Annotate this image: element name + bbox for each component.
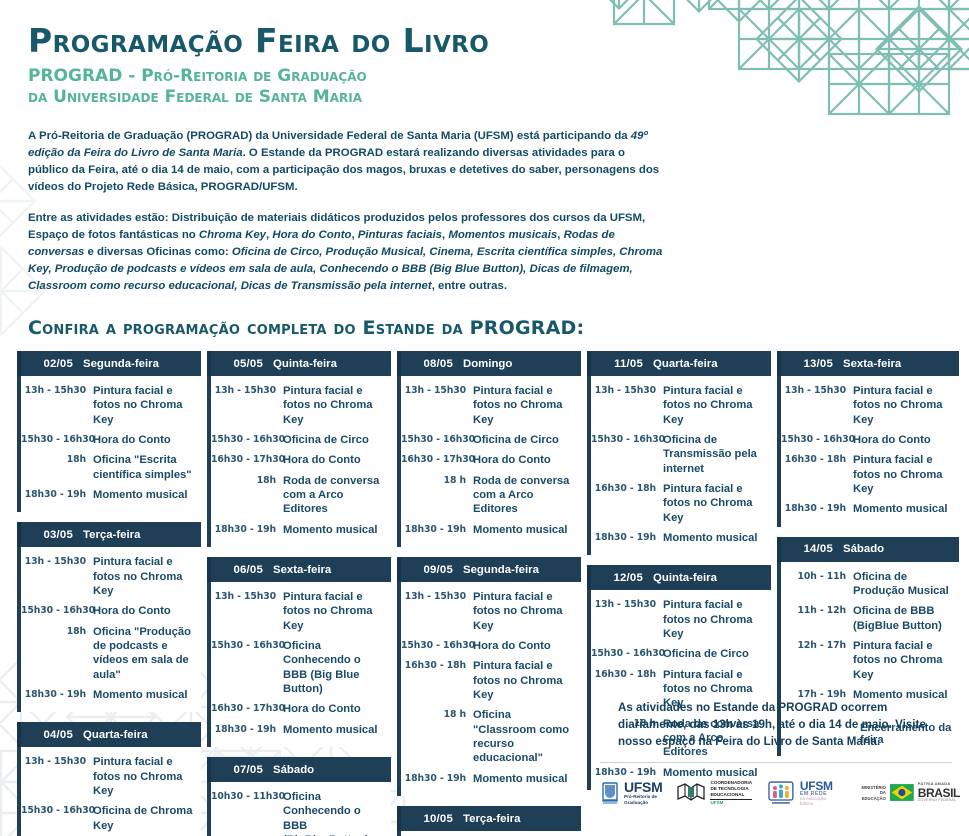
schedule-activity: Hora do Conto bbox=[283, 702, 387, 716]
day-card-body: 13h - 15h30Pintura facial e fotos no Chr… bbox=[17, 376, 201, 512]
ministerio-line1: MINISTÉRIO DA bbox=[855, 785, 886, 796]
schedule-time: 15h30 - 16h30 bbox=[401, 639, 473, 651]
schedule-time: 15h30 - 16h30 bbox=[21, 433, 93, 445]
schedule-activity: Pintura facial e fotos no Chroma Key bbox=[473, 590, 577, 633]
intro-paragraph-1: A Pró-Reitoria de Graduação (PROGRAD) da… bbox=[28, 128, 664, 196]
day-date: 08/05 bbox=[411, 358, 453, 370]
schedule-time: 18h30 - 19h bbox=[401, 523, 473, 535]
schedule-row: 13h - 15h30Pintura facial e fotos no Chr… bbox=[401, 384, 577, 427]
schedule-activity: Pintura facial e fotos no Chroma Key bbox=[93, 555, 197, 598]
day-card-body: 13h - 15h30Pintura facial e fotos no Chr… bbox=[207, 582, 391, 747]
schedule-time: 13h - 15h30 bbox=[21, 384, 93, 396]
schedule-activity: Hora do Conto bbox=[853, 433, 955, 447]
schedule-row: 18h30 - 19hMomento musical bbox=[21, 488, 197, 502]
schedule-activity: Oficina de BBB (BigBlue Button) bbox=[853, 604, 955, 633]
schedule-time: 16h30 - 18h bbox=[591, 482, 663, 494]
day-weekday: Domingo bbox=[463, 358, 512, 370]
ufsm-prograd-sub2: Graduação bbox=[624, 800, 662, 806]
day-card[interactable]: 09/05Segunda-feira13h - 15h30Pintura fac… bbox=[397, 557, 581, 796]
schedule-row: 18h30 - 19hMomento musical bbox=[401, 772, 577, 786]
day-card[interactable]: 03/05Terça-feira13h - 15h30Pintura facia… bbox=[17, 522, 201, 712]
day-weekday: Terça-feira bbox=[83, 529, 140, 541]
day-card-body: 13h - 15h30Pintura facial e fotos no Chr… bbox=[587, 376, 771, 555]
poster-header: Programação Feira do Livro PROGRAD - Pró… bbox=[0, 0, 969, 108]
day-weekday: Quarta-feira bbox=[653, 358, 718, 370]
day-card-header: 11/05Quarta-feira bbox=[587, 351, 771, 376]
schedule-time: 13h - 15h30 bbox=[21, 555, 93, 567]
schedule-time: 15h30 - 16h30 bbox=[591, 647, 663, 659]
schedule-time: 18h bbox=[21, 625, 93, 637]
schedule-row: 16h30 - 18hPintura facial e fotos no Chr… bbox=[591, 482, 767, 525]
schedule-time: 15h30 - 16h30 bbox=[21, 804, 93, 816]
schedule-row: 16h30 - 18hPintura facial e fotos no Chr… bbox=[401, 659, 577, 702]
schedule-time: 13h - 15h30 bbox=[591, 384, 663, 396]
schedule-time: 18h30 - 19h bbox=[401, 772, 473, 784]
schedule-activity: Momento musical bbox=[473, 772, 577, 786]
schedule-row: 18 hRoda de conversa com a Arco Editores bbox=[401, 474, 577, 517]
coordenadoria-tecnologia-educacional-logo: COORDENADORIA DE TECNOLOGIA EDUCACIONAL … bbox=[676, 780, 752, 806]
day-weekday: Sexta-feira bbox=[843, 358, 901, 370]
schedule-activity: Oficina de Circo bbox=[663, 647, 767, 661]
schedule-row: 13h - 15h30Pintura facial e fotos no Chr… bbox=[21, 555, 197, 598]
schedule-time: 18h30 - 19h bbox=[781, 502, 853, 514]
schedule-row: 15h30 - 16h30Hora do Conto bbox=[21, 604, 197, 618]
schedule-time: 16h30 - 18h bbox=[781, 453, 853, 465]
schedule-time: 15h30 - 16h30 bbox=[21, 604, 93, 616]
schedule-time: 18 h bbox=[401, 474, 473, 486]
schedule-row: 13h - 15h30Pintura facial e fotos no Chr… bbox=[591, 384, 767, 427]
schedule-activity: Pintura facial e fotos no Chroma Key bbox=[283, 590, 387, 633]
day-card-header: 13/05Sexta-feira bbox=[777, 351, 959, 376]
day-card[interactable]: 10/05Terça-feira13h - 15h30Pintura facia… bbox=[397, 806, 581, 836]
day-date: 05/05 bbox=[221, 358, 263, 370]
schedule-column-1: 02/05Segunda-feira13h - 15h30Pintura fac… bbox=[17, 351, 201, 836]
day-card[interactable]: 02/05Segunda-feira13h - 15h30Pintura fac… bbox=[17, 351, 201, 512]
schedule-time: 16h30 - 18h bbox=[401, 659, 473, 671]
schedule-activity: Oficina de Chroma Key bbox=[93, 804, 197, 833]
schedule-row: 12h - 17hPintura facial e fotos no Chrom… bbox=[781, 639, 955, 682]
schedule-time: 13h - 15h30 bbox=[591, 598, 663, 610]
day-card-header: 07/05Sábado bbox=[207, 757, 391, 782]
schedule-time: 18 h bbox=[401, 708, 473, 720]
schedule-activity: Momento musical bbox=[93, 688, 197, 702]
day-date: 14/05 bbox=[791, 543, 833, 555]
schedule-column-2: 05/05Quinta-feira13h - 15h30Pintura faci… bbox=[207, 351, 391, 836]
day-date: 10/05 bbox=[411, 813, 453, 825]
subtitle-line-1: PROGRAD - Pró-Reitoria de Graduação bbox=[28, 66, 969, 87]
schedule-row: 18h30 - 19hMomento musical bbox=[591, 531, 767, 545]
schedule-grid: 02/05Segunda-feira13h - 15h30Pintura fac… bbox=[0, 351, 969, 836]
schedule-time: 13h - 15h30 bbox=[211, 384, 283, 396]
schedule-time: 16h30 - 17h30 bbox=[211, 702, 283, 714]
schedule-column-3: 08/05Domingo13h - 15h30Pintura facial e … bbox=[397, 351, 581, 836]
schedule-row: 18hOficina "Escrita científica simples" bbox=[21, 453, 197, 482]
day-date: 11/05 bbox=[601, 358, 643, 370]
schedule-time: 15h30 - 16h30 bbox=[781, 433, 853, 445]
day-card-body: 13h - 15h30Pintura facial e fotos no Chr… bbox=[397, 376, 581, 547]
schedule-row: 13h - 15h30Pintura facial e fotos no Chr… bbox=[781, 384, 955, 427]
day-weekday: Sábado bbox=[843, 543, 884, 555]
schedule-activity: Oficina Conhecendo o BBB (Big Blue Butto… bbox=[283, 639, 387, 696]
schedule-time: 16h30 - 18h bbox=[591, 668, 663, 680]
schedule-row: 13h - 15h30Pintura facial e fotos no Chr… bbox=[211, 384, 387, 427]
day-date: 09/05 bbox=[411, 564, 453, 576]
day-weekday: Terça-feira bbox=[463, 813, 520, 825]
day-card-header: 10/05Terça-feira bbox=[397, 806, 581, 831]
schedule-activity: Hora do Conto bbox=[283, 453, 387, 467]
day-card-header: 04/05Quarta-feira bbox=[17, 722, 201, 747]
day-weekday: Quinta-feira bbox=[653, 572, 717, 584]
schedule-row: 16h30 - 18hPintura facial e fotos no Chr… bbox=[781, 453, 955, 496]
day-date: 02/05 bbox=[31, 358, 73, 370]
cte-line3: EDUCACIONAL bbox=[710, 792, 752, 798]
subtitle-line-2: da Universidade Federal de Santa Maria bbox=[28, 87, 969, 108]
schedule-time: 18h30 - 19h bbox=[21, 688, 93, 700]
schedule-activity: Momento musical bbox=[473, 523, 577, 537]
schedule-activity: Roda de conversa com a Arco Editores bbox=[283, 474, 387, 517]
people-group-icon bbox=[766, 780, 796, 806]
day-card-header: 02/05Segunda-feira bbox=[17, 351, 201, 376]
schedule-row: 10h - 11hOficina de Produção Musical bbox=[781, 570, 955, 599]
day-weekday: Segunda-feira bbox=[463, 564, 539, 576]
day-weekday: Quarta-feira bbox=[83, 729, 148, 741]
day-card[interactable]: 07/05Sábado10h30 - 11h30Oficina Conhecen… bbox=[207, 757, 391, 836]
schedule-row: 15h30 - 16h30Hora do Conto bbox=[21, 433, 197, 447]
day-card-body: 13h - 15h30Pintura facial e fotos no Chr… bbox=[17, 747, 201, 836]
footer-note: As atividades no Estande da PROGRAD ocor… bbox=[618, 700, 958, 750]
schedule-activity: Momento musical bbox=[283, 723, 387, 737]
schedule-time: 15h30 - 16h30 bbox=[591, 433, 663, 445]
ufsm-prograd-logo: UFSM Pró-Reitoria de Graduação bbox=[600, 780, 662, 805]
schedule-row: 15h30 - 16h30Oficina de Chroma Key bbox=[21, 804, 197, 833]
schedule-row: 15h30 - 16h30Oficina de Circo bbox=[211, 433, 387, 447]
schedule-row: 16h30 - 17h30Hora do Conto bbox=[401, 453, 577, 467]
schedule-row: 18h30 - 19hMomento musical bbox=[21, 688, 197, 702]
schedule-row: 15h30 - 16h30Hora do Conto bbox=[401, 639, 577, 653]
schedule-time: 13h - 15h30 bbox=[401, 384, 473, 396]
day-weekday: Sábado bbox=[273, 764, 314, 776]
day-card-header: 05/05Quinta-feira bbox=[207, 351, 391, 376]
schedule-row: 15h30 - 16h30Hora do Conto bbox=[781, 433, 955, 447]
footer-divider bbox=[600, 762, 952, 763]
schedule-row: 18hOficina "Produção de podcasts e vídeo… bbox=[21, 625, 197, 682]
day-card[interactable]: 12/05Quinta-feira13h - 15h30Pintura faci… bbox=[587, 565, 771, 790]
day-card-header: 06/05Sexta-feira bbox=[207, 557, 391, 582]
day-date: 03/05 bbox=[31, 529, 73, 541]
schedule-activity: Oficina de Circo bbox=[283, 433, 387, 447]
schedule-section-title: Confira a programação completa do Estand… bbox=[28, 317, 969, 339]
schedule-row: 15h30 - 16h30Oficina de Circo bbox=[401, 433, 577, 447]
day-card[interactable]: 06/05Sexta-feira13h - 15h30Pintura facia… bbox=[207, 557, 391, 747]
day-card[interactable]: 11/05Quarta-feira13h - 15h30Pintura faci… bbox=[587, 351, 771, 555]
schedule-activity: Momento musical bbox=[283, 523, 387, 537]
schedule-activity: Oficina "Escrita científica simples" bbox=[93, 453, 197, 482]
schedule-activity: Hora do Conto bbox=[93, 604, 197, 618]
schedule-activity: Pintura facial e fotos no Chroma Key bbox=[473, 659, 577, 702]
schedule-row: 11h - 12hOficina de BBB (BigBlue Button) bbox=[781, 604, 955, 633]
ufsm-rede-wordmark: UFSM bbox=[800, 780, 841, 792]
cte-line4: UFSM bbox=[710, 801, 752, 806]
brasil-bottom-text: GOVERNO FEDERAL bbox=[918, 799, 960, 802]
day-card[interactable]: 05/05Quinta-feira13h - 15h30Pintura faci… bbox=[207, 351, 391, 547]
footer-logos: UFSM Pró-Reitoria de Graduação COORDENAD… bbox=[600, 768, 960, 818]
day-card[interactable]: 04/05Quarta-feira13h - 15h30Pintura faci… bbox=[17, 722, 201, 836]
schedule-row: 13h - 15h30Pintura facial e fotos no Chr… bbox=[591, 598, 767, 641]
schedule-activity: Pintura facial e fotos no Chroma Key bbox=[853, 453, 955, 496]
schedule-time: 18h30 - 19h bbox=[21, 488, 93, 500]
schedule-activity: Momento musical bbox=[663, 531, 767, 545]
day-weekday: Quinta-feira bbox=[273, 358, 337, 370]
schedule-time: 16h30 - 17h30 bbox=[211, 453, 283, 465]
day-card-header: 09/05Segunda-feira bbox=[397, 557, 581, 582]
day-card-header: 08/05Domingo bbox=[397, 351, 581, 376]
schedule-time: 12h - 17h bbox=[781, 639, 853, 651]
schedule-row: 10h30 - 11h30Oficina Conhecendo o BBB (B… bbox=[211, 790, 387, 836]
schedule-activity: Pintura facial e fotos no Chroma Key bbox=[93, 755, 197, 798]
schedule-row: 18h30 - 19hMomento musical bbox=[211, 723, 387, 737]
schedule-activity: Pintura facial e fotos no Chroma Key bbox=[93, 384, 197, 427]
day-date: 04/05 bbox=[31, 729, 73, 741]
schedule-time: 15h30 - 16h30 bbox=[211, 433, 283, 445]
schedule-activity: Roda de conversa com a Arco Editores bbox=[473, 474, 577, 517]
schedule-time: 17h - 19h bbox=[781, 688, 853, 700]
schedule-activity: Pintura facial e fotos no Chroma Key bbox=[473, 384, 577, 427]
schedule-time: 10h30 - 11h30 bbox=[211, 790, 283, 802]
intro-text-block: A Pró-Reitoria de Graduação (PROGRAD) da… bbox=[28, 128, 664, 295]
schedule-time: 18h bbox=[21, 453, 93, 465]
schedule-time: 11h - 12h bbox=[781, 604, 853, 616]
day-card[interactable]: 08/05Domingo13h - 15h30Pintura facial e … bbox=[397, 351, 581, 547]
day-card-body: 13h - 15h30Pintura facial e fotos no Chr… bbox=[777, 376, 959, 527]
day-weekday: Sexta-feira bbox=[273, 564, 331, 576]
schedule-row: 18h30 - 19hMomento musical bbox=[401, 523, 577, 537]
day-card-body: 13h - 15h30Pintura facial e fotos no Chr… bbox=[587, 590, 771, 790]
schedule-activity: Oficina de Produção Musical bbox=[853, 570, 955, 599]
schedule-time: 13h - 15h30 bbox=[781, 384, 853, 396]
schedule-time: 15h30 - 16h30 bbox=[401, 433, 473, 445]
schedule-row: 18 hOficina "Classroom como recurso educ… bbox=[401, 708, 577, 765]
day-card[interactable]: 13/05Sexta-feira13h - 15h30Pintura facia… bbox=[777, 351, 959, 527]
day-card-body: 13h - 15h30Pintura facial e fotos no Chr… bbox=[397, 582, 581, 796]
ufsm-crest-icon bbox=[600, 781, 620, 805]
ministerio-line2: EDUCAÇÃO bbox=[855, 796, 886, 801]
schedule-activity: Oficina "Produção de podcasts e vídeos e… bbox=[93, 625, 197, 682]
schedule-activity: Pintura facial e fotos no Chroma Key bbox=[663, 482, 767, 525]
schedule-row: 16h30 - 17h30Hora do Conto bbox=[211, 702, 387, 716]
ufsm-rede-sub2: na educação básica bbox=[800, 797, 841, 806]
brasil-flag-icon bbox=[890, 784, 914, 801]
intro-paragraph-2: Entre as atividades estão: Distribuição … bbox=[28, 210, 664, 296]
schedule-activity: Oficina "Classroom como recurso educacio… bbox=[473, 708, 577, 765]
schedule-activity: Oficina de Circo bbox=[473, 433, 577, 447]
schedule-activity: Hora do Conto bbox=[473, 453, 577, 467]
day-card-header: 03/05Terça-feira bbox=[17, 522, 201, 547]
schedule-row: 18h30 - 19hMomento musical bbox=[211, 523, 387, 537]
schedule-time: 15h30 - 16h30 bbox=[211, 639, 283, 651]
schedule-row: 15h30 - 16h30Oficina de Circo bbox=[591, 647, 767, 661]
page-title: Programação Feira do Livro bbox=[28, 24, 969, 59]
day-card-body: 13h - 15h30Pintura facial e fotos no Chr… bbox=[397, 831, 581, 836]
schedule-activity: Hora do Conto bbox=[93, 433, 197, 447]
schedule-activity: Pintura facial e fotos no Chroma Key bbox=[853, 639, 955, 682]
day-card-body: 13h - 15h30Pintura facial e fotos no Chr… bbox=[207, 376, 391, 547]
schedule-activity: Pintura facial e fotos no Chroma Key bbox=[663, 598, 767, 641]
day-card-body: 10h30 - 11h30Oficina Conhecendo o BBB (B… bbox=[207, 782, 391, 836]
schedule-row: 15h30 - 16h30Oficina Conhecendo o BBB (B… bbox=[211, 639, 387, 696]
schedule-time: 13h - 15h30 bbox=[21, 755, 93, 767]
schedule-time: 18h bbox=[211, 474, 283, 486]
schedule-row: 18hRoda de conversa com a Arco Editores bbox=[211, 474, 387, 517]
schedule-activity: Oficina Conhecendo o BBB (BigBlueButton) bbox=[283, 790, 387, 836]
schedule-time: 13h - 15h30 bbox=[211, 590, 283, 602]
schedule-time: 18h30 - 19h bbox=[211, 723, 283, 735]
schedule-activity: Pintura facial e fotos no Chroma Key bbox=[663, 384, 767, 427]
day-date: 13/05 bbox=[791, 358, 833, 370]
open-book-icon bbox=[676, 781, 706, 805]
ufsm-wordmark: UFSM bbox=[624, 780, 662, 794]
schedule-activity: Pintura facial e fotos no Chroma Key bbox=[853, 384, 955, 427]
schedule-activity: Pintura facial e fotos no Chroma Key bbox=[283, 384, 387, 427]
day-date: 12/05 bbox=[601, 572, 643, 584]
schedule-row: 13h - 15h30Pintura facial e fotos no Chr… bbox=[401, 590, 577, 633]
schedule-time: 16h30 - 17h30 bbox=[401, 453, 473, 465]
schedule-time: 10h - 11h bbox=[781, 570, 853, 582]
poster-root: Programação Feira do Livro PROGRAD - Pró… bbox=[0, 0, 969, 836]
schedule-time: 18h30 - 19h bbox=[591, 531, 663, 543]
schedule-activity: Momento musical bbox=[93, 488, 197, 502]
schedule-row: 13h - 15h30Pintura facial e fotos no Chr… bbox=[211, 590, 387, 633]
day-card-header: 12/05Quinta-feira bbox=[587, 565, 771, 590]
schedule-row: 16h30 - 17h30Hora do Conto bbox=[211, 453, 387, 467]
day-date: 06/05 bbox=[221, 564, 263, 576]
schedule-row: 15h30 - 16h30Oficina de Transmissão pela… bbox=[591, 433, 767, 476]
schedule-row: 13h - 15h30Pintura facial e fotos no Chr… bbox=[21, 384, 197, 427]
day-weekday: Segunda-feira bbox=[83, 358, 159, 370]
schedule-activity: Hora do Conto bbox=[473, 639, 577, 653]
day-card-header: 14/05Sábado bbox=[777, 537, 959, 562]
day-card-body: 13h - 15h30Pintura facial e fotos no Chr… bbox=[17, 547, 201, 712]
schedule-activity: Oficina de Transmissão pela internet bbox=[663, 433, 767, 476]
schedule-row: 18h30 - 19hMomento musical bbox=[781, 502, 955, 516]
day-date: 07/05 bbox=[221, 764, 263, 776]
schedule-time: 18h30 - 19h bbox=[211, 523, 283, 535]
ministerio-educacao-brasil-logo: MINISTÉRIO DA EDUCAÇÃO PÁTRIA AMADA BRAS… bbox=[855, 783, 960, 802]
schedule-time: 13h - 15h30 bbox=[401, 590, 473, 602]
schedule-row: 13h - 15h30Pintura facial e fotos no Chr… bbox=[21, 755, 197, 798]
schedule-activity: Momento musical bbox=[853, 502, 955, 516]
ufsm-em-rede-logo: UFSM EM REDE na educação básica bbox=[766, 780, 841, 806]
